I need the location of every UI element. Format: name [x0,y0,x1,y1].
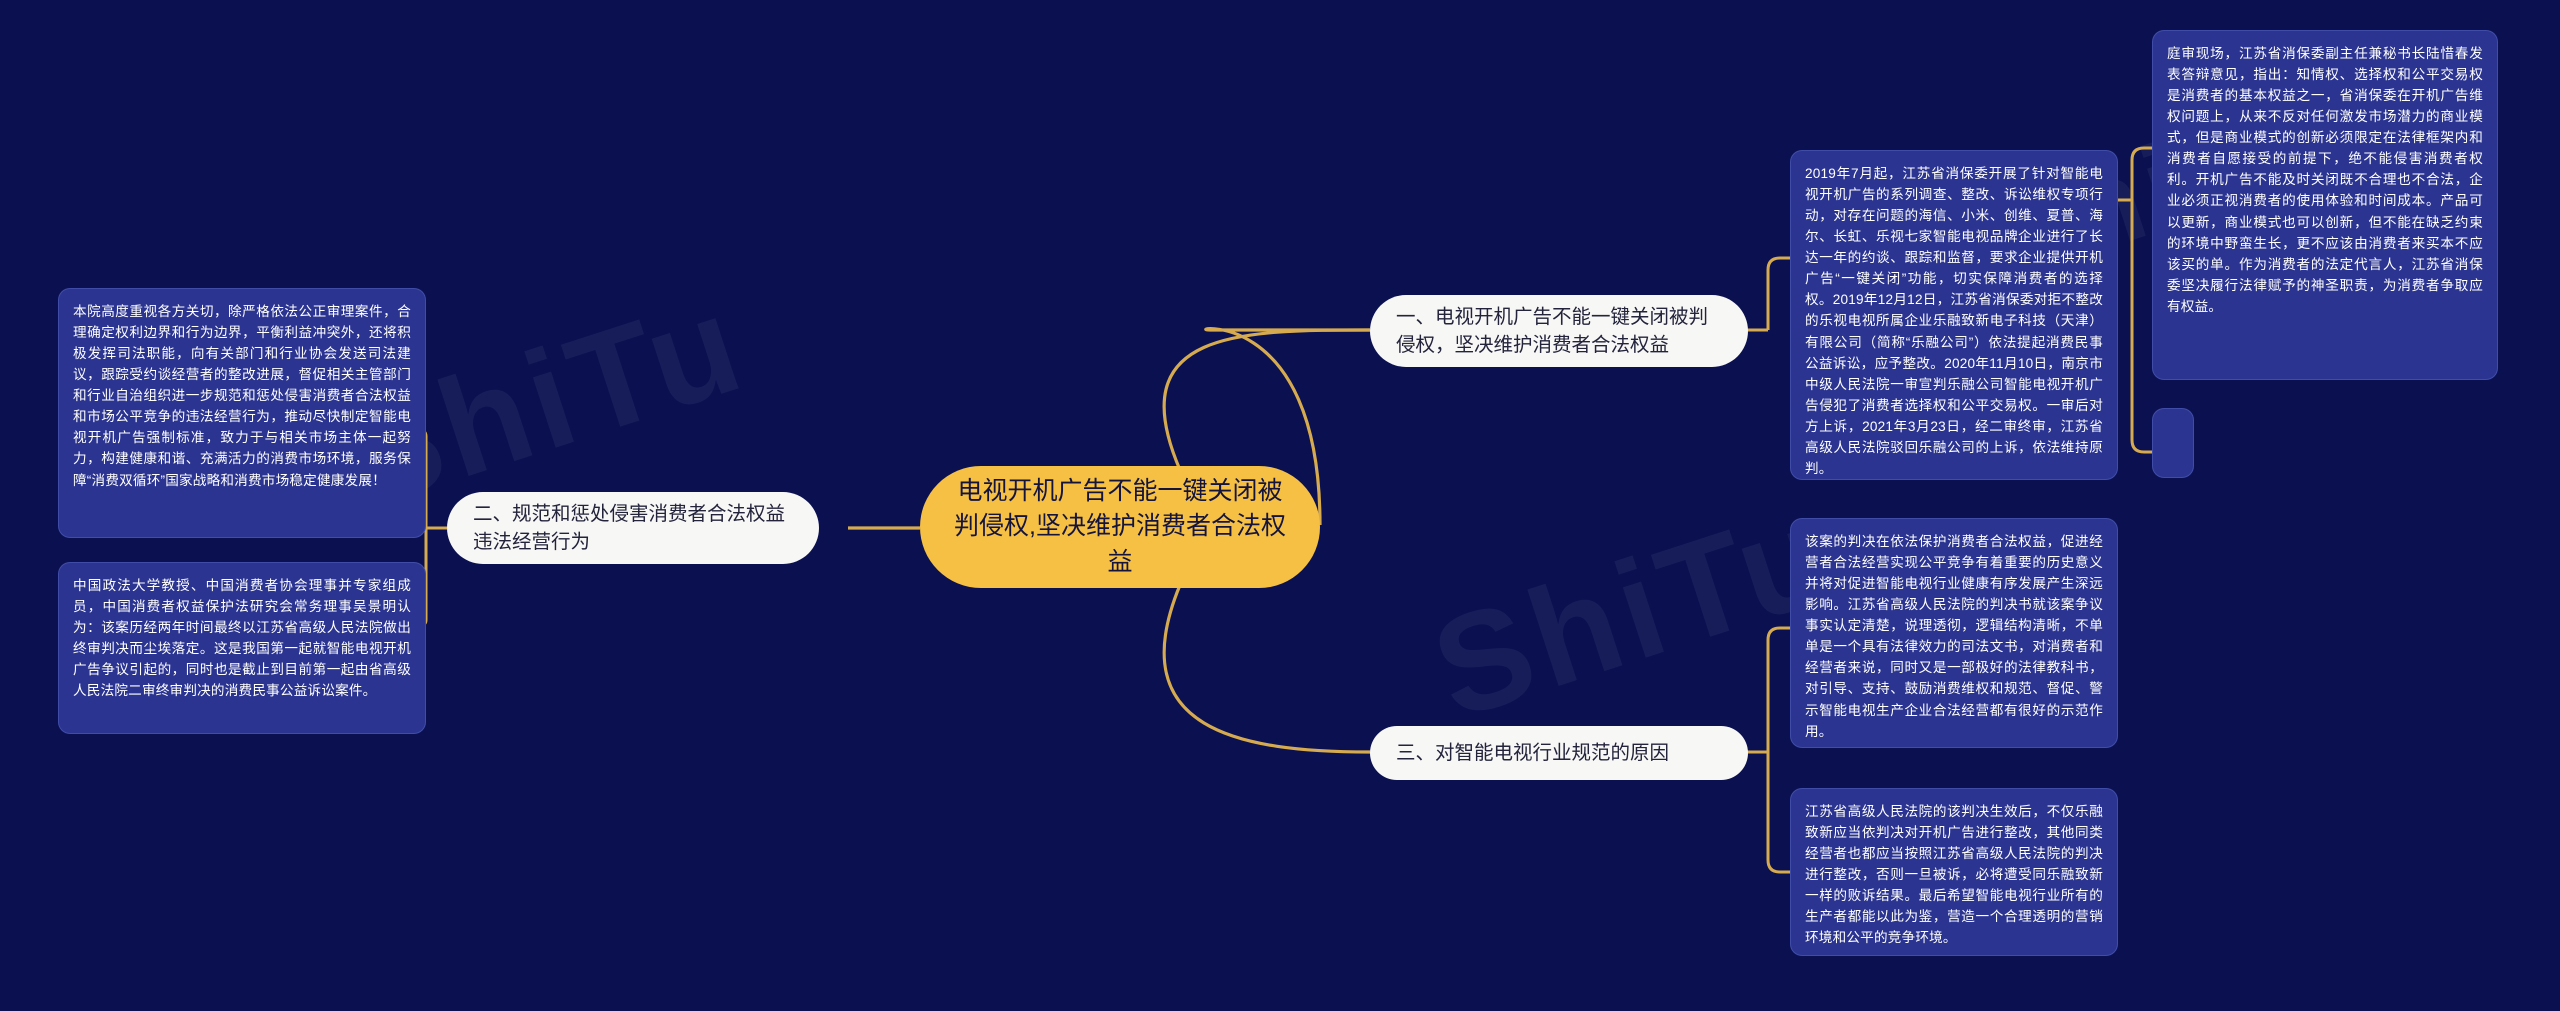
mindmap-canvas: ShiTu ShiTu ShiTu 电视开机广告不能一键关闭被判侵权,坚决维护消… [0,0,2560,1011]
card-right-bottom[interactable]: 江苏省高级人民法院的该判决生效后，不仅乐融致新应当依判决对开机广告进行整改，其他… [1790,788,2118,956]
central-node[interactable]: 电视开机广告不能一键关闭被判侵权,坚决维护消费者合法权益 [920,466,1320,588]
branch-node-1[interactable]: 一、电视开机广告不能一键关闭被判侵权，坚决维护消费者合法权益 [1370,295,1748,367]
card-right-middle[interactable]: 该案的判决在依法保护消费者合法权益，促进经营者合法经营实现公平竞争有着重要的历史… [1790,518,2118,748]
connector-central-branch3 [1164,585,1370,752]
card-right-top[interactable]: 2019年7月起，江苏省消保委开展了针对智能电视开机广告的系列调查、整改、诉讼维… [1790,150,2118,480]
watermark-2: ShiTu [1415,471,1854,751]
card-left-bottom[interactable]: 中国政法大学教授、中国消费者协会理事并专家组成员，中国消费者权益保护法研究会常务… [58,562,426,734]
card-left-top[interactable]: 本院高度重视各方关切，除严格依法公正审理案件，合理确定权利边界和行为边界，平衡利… [58,288,426,538]
connector-central-branch1b [1164,330,1370,470]
card-right-stub[interactable] [2152,408,2194,478]
branch-node-2[interactable]: 二、规范和惩处侵害消费者合法权益违法经营行为 [447,492,819,564]
connector-branch1-card1 [1768,258,1790,270]
connector-card-rfar-stub [2132,440,2152,452]
connector-branch3-card2 [1768,860,1790,872]
branch-node-3[interactable]: 三、对智能电视行业规范的原因 [1370,726,1748,780]
card-right-far-top[interactable]: 庭审现场，江苏省消保委副主任兼秘书长陆惜春发表答辩意见，指出：知情权、选择权和公… [2152,30,2498,380]
